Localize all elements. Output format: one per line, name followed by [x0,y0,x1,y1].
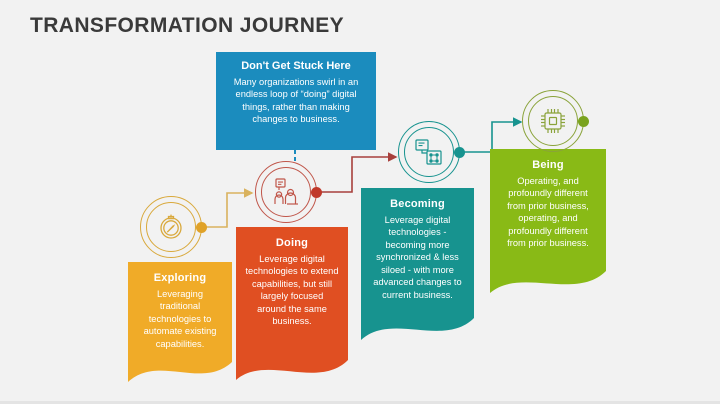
stage-description-becoming: Leverage digital technologies - becoming… [370,214,465,301]
callout-body: Many organizations swirl in an endless l… [225,76,367,126]
stage-title-exploring: Exploring [137,272,223,284]
callout-title: Don't Get Stuck Here [225,60,367,72]
ribbon-tail-being [490,265,606,305]
stage-panel-being[interactable]: Being Operating, and profoundly differen… [490,149,606,271]
stage-icon-doing[interactable] [255,161,317,223]
stage-description-being: Operating, and profoundly different from… [499,175,597,250]
stage-title-doing: Doing [245,237,339,249]
connector-node-doing [311,187,322,198]
stage-panel-becoming[interactable]: Becoming Leverage digital technologies -… [361,188,474,316]
ribbon-tail-exploring [128,348,232,388]
stage-panel-doing[interactable]: Doing Leverage digital technologies to e… [236,227,348,356]
stage-title-being: Being [499,159,597,171]
stage-panel-exploring[interactable]: Exploring Leveraging traditional technol… [128,262,232,354]
compass-icon [155,211,187,243]
transformation-journey-slide: TRANSFORMATION JOURNEY Don [0,0,720,404]
connector-node-exploring [196,222,207,233]
ribbon-tail-doing [236,350,348,390]
stage-title-becoming: Becoming [370,198,465,210]
stage-icon-exploring[interactable] [140,196,202,258]
connector-node-becoming [454,147,465,158]
processor-chip-icon [537,105,569,137]
ribbon-tail-becoming [361,310,474,350]
presentation-people-icon [270,176,302,208]
stage-icon-becoming[interactable] [398,121,460,183]
connector-node-being [578,116,589,127]
page-title: TRANSFORMATION JOURNEY [30,14,344,38]
connected-documents-icon [413,136,445,168]
stage-description-doing: Leverage digital technologies to extend … [245,253,339,328]
stage-description-exploring: Leveraging traditional technologies to a… [137,288,223,350]
stage-icon-being[interactable] [522,90,584,152]
dont-get-stuck-callout: Don't Get Stuck Here Many organizations … [216,52,376,150]
